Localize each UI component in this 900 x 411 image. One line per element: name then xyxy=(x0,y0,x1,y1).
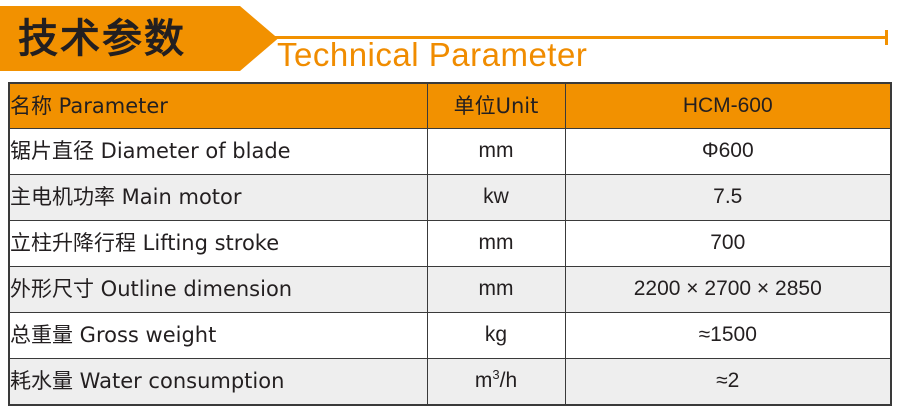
spec-sheet-page: 技术参数 Technical Parameter 名称 Parameter 单位… xyxy=(0,0,900,411)
column-header-parameter: 名称 Parameter xyxy=(9,83,427,129)
header-rule-end-cap xyxy=(885,30,888,45)
page-title-cn: 技术参数 xyxy=(18,6,246,71)
cell-value: 700 xyxy=(565,221,891,267)
cell-value: ≈2 xyxy=(565,359,891,406)
table-row: 外形尺寸 Outline dimensionmm2200 × 2700 × 28… xyxy=(9,267,891,313)
specification-table: 名称 Parameter 单位Unit HCM-600 锯片直径 Diamete… xyxy=(8,82,892,406)
table-row: 耗水量 Water consumptionm3/h≈2 xyxy=(9,359,891,406)
table-row: 总重量 Gross weightkg≈1500 xyxy=(9,313,891,359)
cell-value: 7.5 xyxy=(565,175,891,221)
cell-parameter: 总重量 Gross weight xyxy=(9,313,427,359)
column-header-model: HCM-600 xyxy=(565,83,891,129)
spec-table-container: 名称 Parameter 单位Unit HCM-600 锯片直径 Diamete… xyxy=(8,82,890,404)
page-header: 技术参数 Technical Parameter xyxy=(0,0,900,78)
cell-unit: kw xyxy=(427,175,565,221)
unit-tail: /h xyxy=(500,369,518,392)
unit-base: m xyxy=(475,369,493,392)
cell-unit: mm xyxy=(427,129,565,175)
table-header: 名称 Parameter 单位Unit HCM-600 xyxy=(9,83,891,129)
table-header-row: 名称 Parameter 单位Unit HCM-600 xyxy=(9,83,891,129)
cell-parameter: 锯片直径 Diameter of blade xyxy=(9,129,427,175)
cell-value: ≈1500 xyxy=(565,313,891,359)
cell-unit: mm xyxy=(427,267,565,313)
cell-parameter: 外形尺寸 Outline dimension xyxy=(9,267,427,313)
cell-unit: mm xyxy=(427,221,565,267)
cell-value: Φ600 xyxy=(565,129,891,175)
cell-parameter: 耗水量 Water consumption xyxy=(9,359,427,406)
cell-unit: m3/h xyxy=(427,359,565,406)
column-header-unit: 单位Unit xyxy=(427,83,565,129)
cell-parameter: 主电机功率 Main motor xyxy=(9,175,427,221)
table-body: 锯片直径 Diameter of blademmΦ600主电机功率 Main m… xyxy=(9,129,891,406)
unit-superscript: 3 xyxy=(492,367,499,382)
page-title-en: Technical Parameter xyxy=(277,38,587,71)
table-row: 锯片直径 Diameter of blademmΦ600 xyxy=(9,129,891,175)
table-row: 主电机功率 Main motorkw7.5 xyxy=(9,175,891,221)
table-row: 立柱升降行程 Lifting strokemm700 xyxy=(9,221,891,267)
cell-unit: kg xyxy=(427,313,565,359)
cell-value: 2200 × 2700 × 2850 xyxy=(565,267,891,313)
cell-parameter: 立柱升降行程 Lifting stroke xyxy=(9,221,427,267)
